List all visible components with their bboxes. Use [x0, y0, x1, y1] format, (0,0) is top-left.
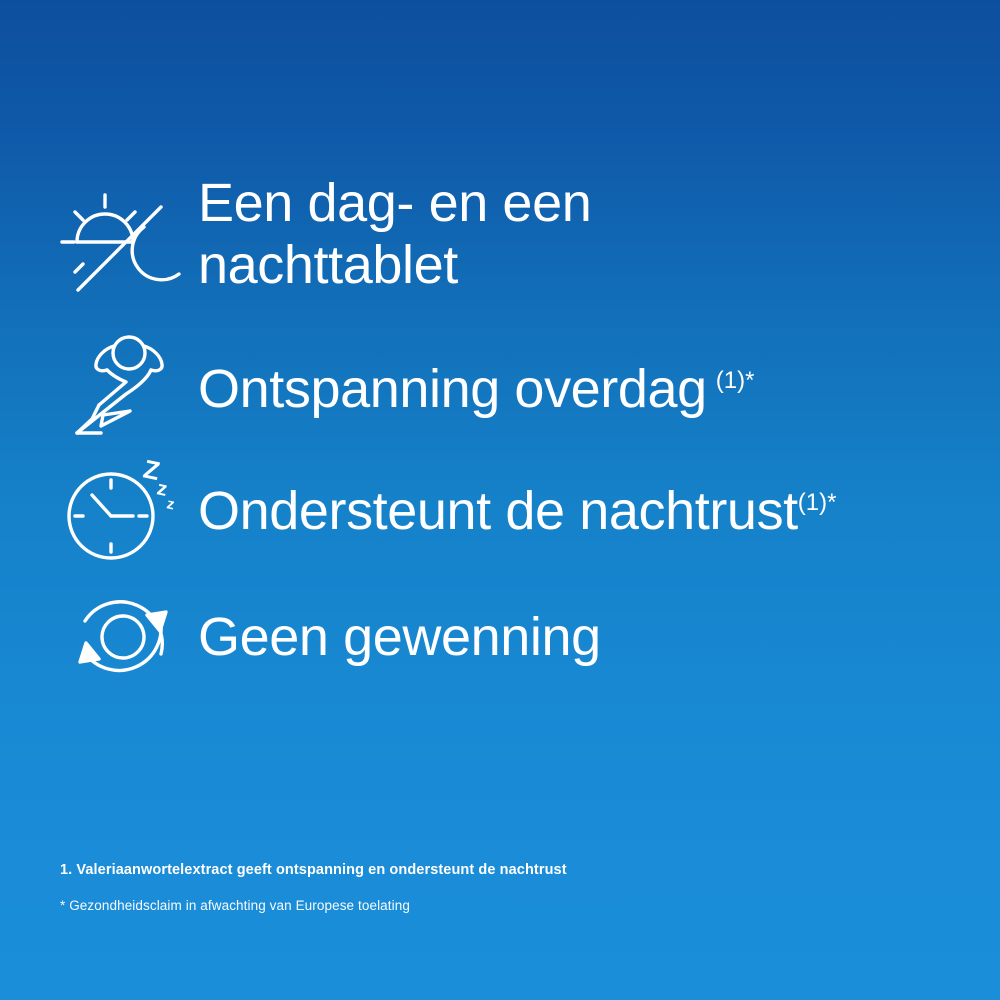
- footnote-reference-1: 1. Valeriaanwortelextract geeft ontspann…: [60, 862, 940, 878]
- benefit-superscript: (1)*: [716, 367, 755, 394]
- clock-sleep-icon: Z z z: [48, 452, 198, 570]
- benefit-label: Ontspanning overdag(1)*: [198, 358, 754, 420]
- footnote-asterisk: * Gezondheidsclaim in afwachting van Eur…: [60, 898, 940, 913]
- benefit-label-text: Ondersteunt de nachtrust: [198, 481, 798, 541]
- benefit-item-supports-night-rest: Z z z Ondersteunt de nachtrust(1)*: [48, 452, 836, 570]
- benefit-label: Geen gewenning: [198, 606, 601, 668]
- benefit-label-text: Ontspanning overdag: [198, 359, 707, 419]
- refresh-cycle-icon: [48, 578, 198, 696]
- benefit-label: Een dag- en een nachttablet: [198, 172, 758, 296]
- benefit-label: Ondersteunt de nachtrust(1)*: [198, 480, 836, 542]
- sun-moon-icon: [48, 176, 198, 304]
- benefit-item-relaxation-daytime: Ontspanning overdag(1)*: [48, 330, 754, 448]
- benefit-item-no-habituation: Geen gewenning: [48, 578, 601, 696]
- benefits-panel: Een dag- en een nachttablet: [0, 0, 1000, 1000]
- svg-text:z: z: [165, 495, 176, 513]
- benefit-superscript: (1)*: [798, 489, 837, 516]
- footnotes: 1. Valeriaanwortelextract geeft ontspann…: [60, 862, 940, 913]
- relaxing-person-icon: [48, 330, 198, 448]
- benefit-item-day-night-tablet: Een dag- en een nachttablet: [48, 172, 758, 304]
